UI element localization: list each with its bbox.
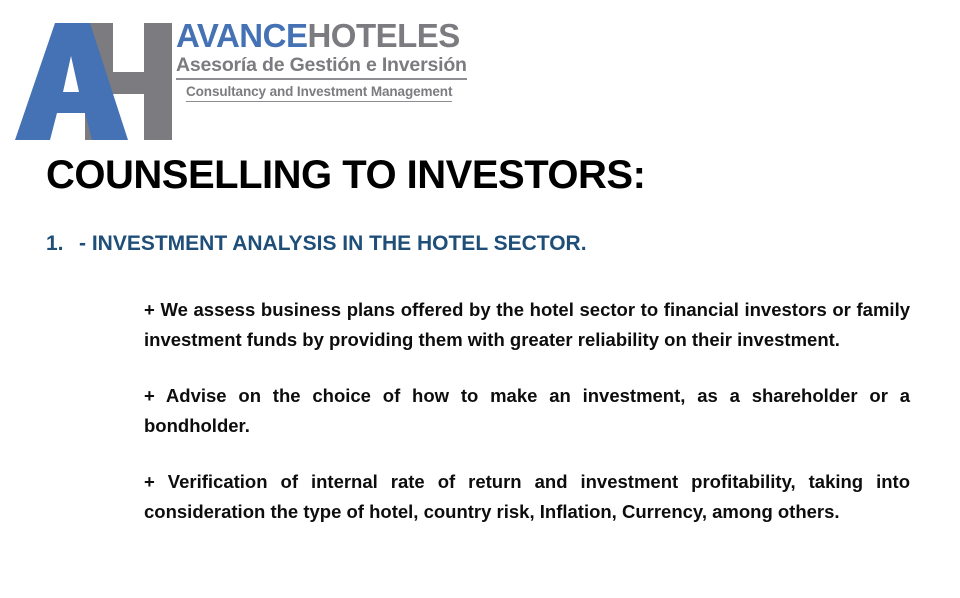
section-heading-1: 1.- INVESTMENT ANALYSIS IN THE HOTEL SEC…	[46, 231, 916, 257]
section-number: 1.	[46, 231, 79, 257]
brand-name-avance: AVANCE	[176, 17, 307, 54]
page-title: COUNSELLING TO INVESTORS:	[46, 152, 645, 198]
logo-wordmark: AVANCEHOTELES Asesoría de Gestión e Inve…	[176, 18, 486, 102]
tagline-spanish: Asesoría de Gestión e Inversión	[176, 54, 467, 80]
tagline-spanish-wrap: Asesoría de Gestión e Inversión	[176, 54, 486, 80]
section-heading-text: - INVESTMENT ANALYSIS IN THE HOTEL SECTO…	[79, 232, 587, 255]
body-paragraph: + Verification of internal rate of retur…	[144, 467, 910, 527]
body-paragraph: + Advise on the choice of how to make an…	[144, 381, 910, 441]
tagline-english: Consultancy and Investment Management	[186, 84, 452, 102]
tagline-english-wrap: Consultancy and Investment Management	[176, 83, 486, 102]
logo-ah-monogram-icon	[14, 14, 184, 140]
brand-name: AVANCEHOTELES	[176, 18, 486, 54]
section-body: + We assess business plans offered by th…	[144, 295, 910, 527]
company-logo: AVANCEHOTELES Asesoría de Gestión e Inve…	[0, 0, 500, 140]
body-paragraph: + We assess business plans offered by th…	[144, 295, 910, 355]
brand-name-hoteles: HOTELES	[307, 17, 459, 54]
